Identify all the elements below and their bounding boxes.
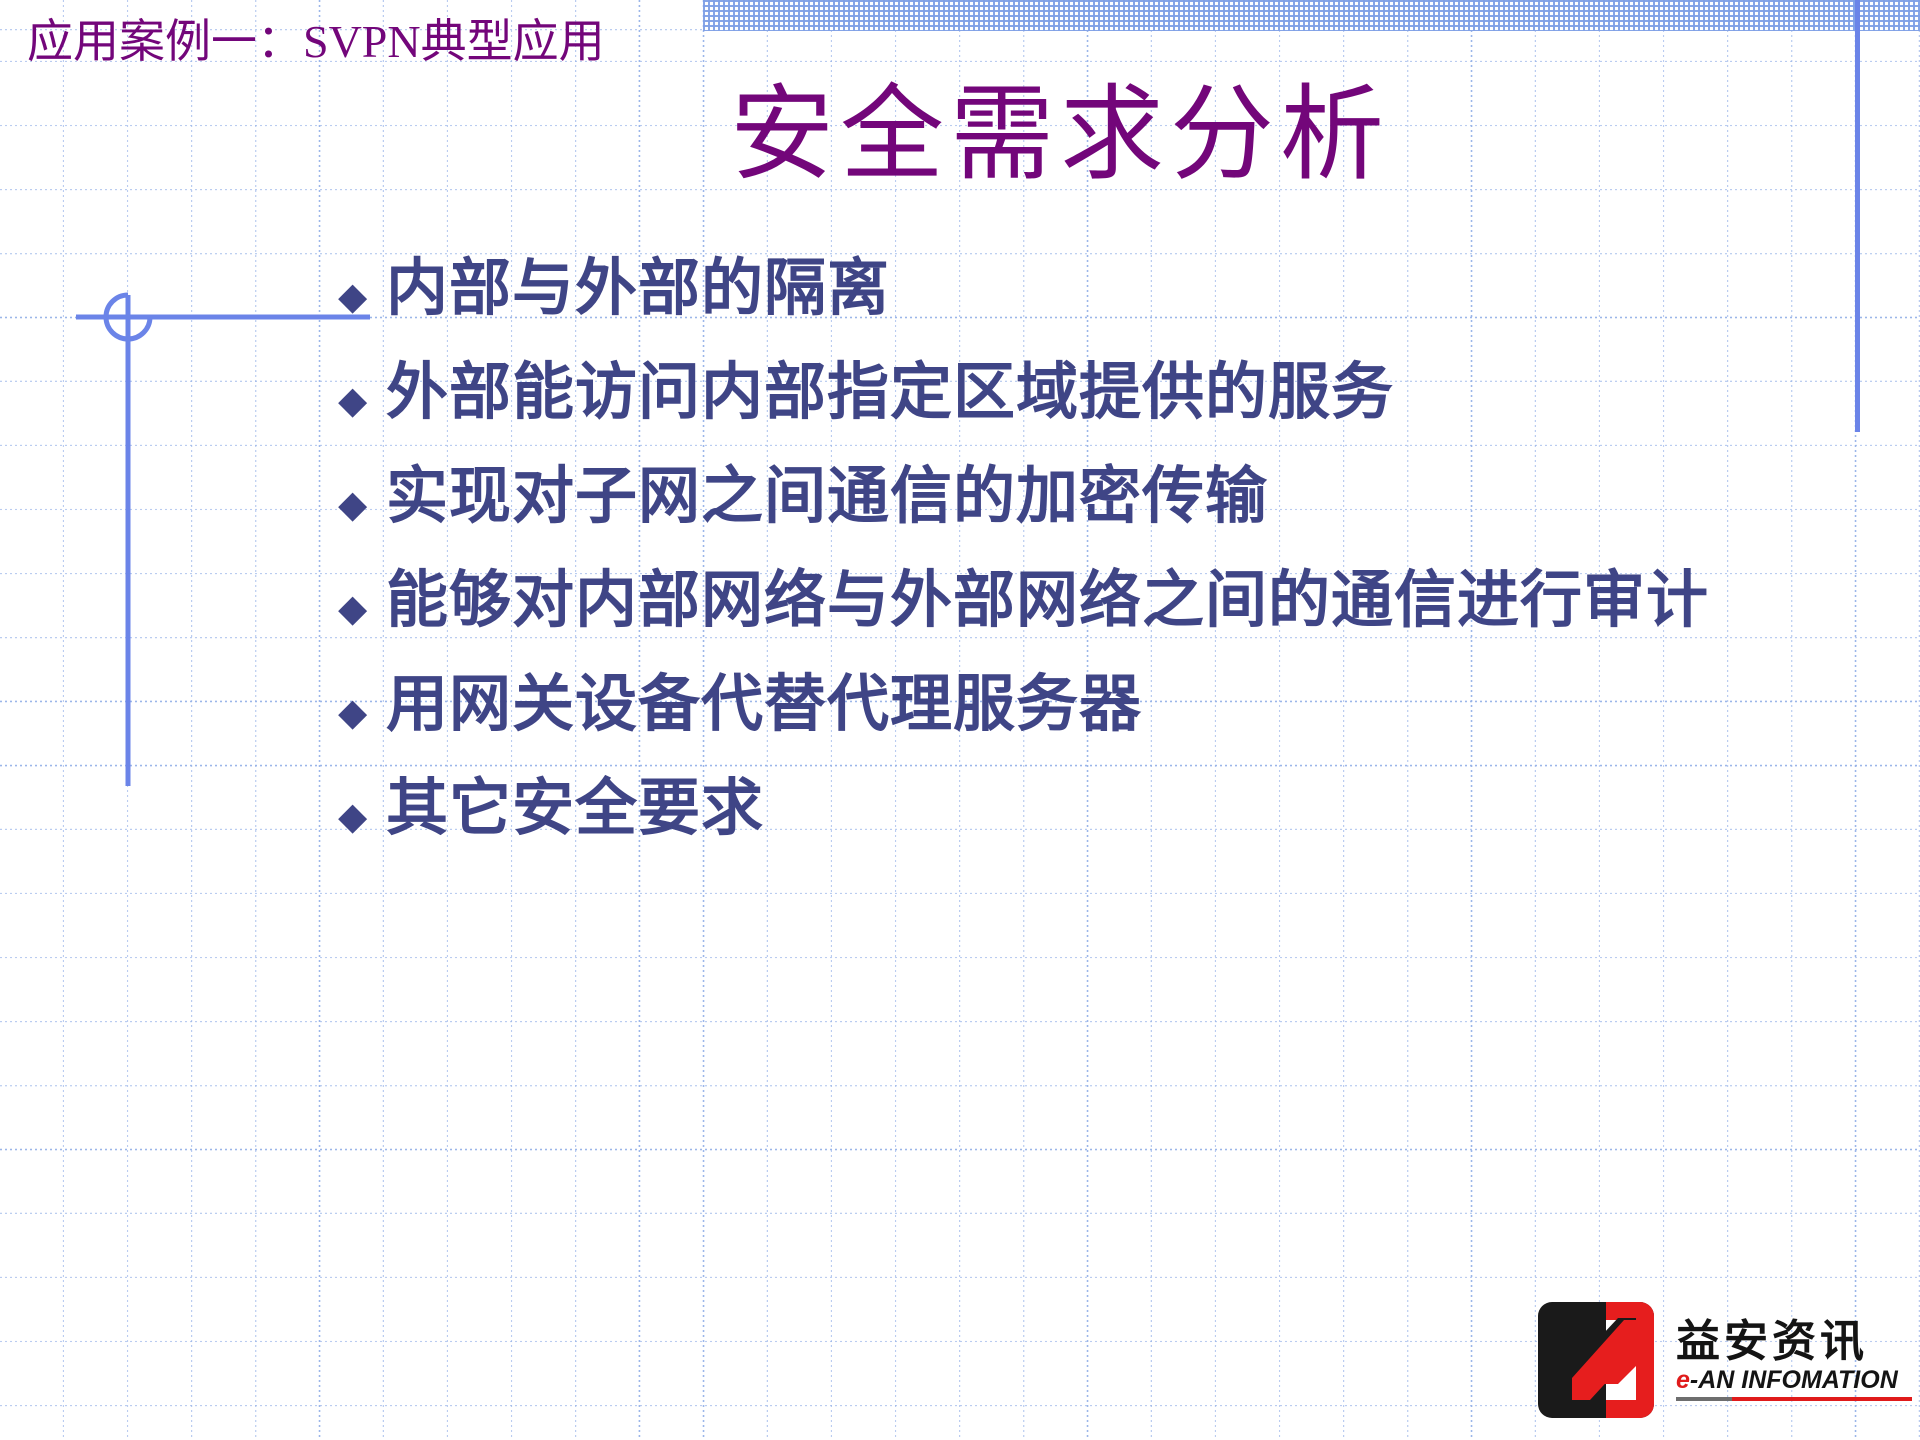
list-item-label: 能够对内部网络与外部网络之间的通信进行审计: [386, 570, 1709, 632]
list-item: ◆ 实现对子网之间通信的加密传输: [338, 466, 1858, 570]
logo-company-name-cn: 益安资讯: [1676, 1319, 1912, 1365]
diamond-bullet-icon: ◆: [338, 277, 386, 315]
list-item-label: 用网关设备代替代理服务器: [386, 674, 1142, 736]
list-item: ◆ 能够对内部网络与外部网络之间的通信进行审计: [338, 570, 1858, 674]
list-item: ◆ 外部能访问内部指定区域提供的服务: [338, 362, 1858, 466]
logo-underline: [1676, 1397, 1912, 1401]
logo-e-glyph: e: [1676, 1366, 1690, 1394]
bullet-list: ◆ 内部与外部的隔离 ◆ 外部能访问内部指定区域提供的服务 ◆ 实现对子网之间通…: [338, 258, 1858, 882]
logo-wordmark: 益安资讯 e-AN INFOMATION: [1676, 1319, 1912, 1401]
list-item-label: 内部与外部的隔离: [386, 258, 890, 320]
diamond-bullet-icon: ◆: [338, 485, 386, 523]
slide-kicker: 应用案例一：SVPN典型应用: [27, 18, 605, 66]
slide-canvas: 应用案例一：SVPN典型应用 安全需求分析 ◆ 内部与外部的隔离 ◆ 外部能访问…: [0, 0, 1920, 1440]
diamond-bullet-icon: ◆: [338, 589, 386, 627]
list-item: ◆ 其它安全要求: [338, 778, 1858, 882]
logo-en-rest: -AN INFOMATION: [1690, 1366, 1898, 1394]
logo-mark-icon: [1532, 1296, 1660, 1424]
diamond-bullet-icon: ◆: [338, 381, 386, 419]
diamond-bullet-icon: ◆: [338, 797, 386, 835]
list-item: ◆ 用网关设备代替代理服务器: [338, 674, 1858, 778]
diamond-bullet-icon: ◆: [338, 693, 386, 731]
page-title: 安全需求分析: [0, 78, 1920, 192]
company-logo: 益安资讯 e-AN INFOMATION: [1532, 1290, 1902, 1430]
list-item-label: 实现对子网之间通信的加密传输: [386, 466, 1268, 528]
top-hatched-band: [703, 0, 1920, 31]
list-item-label: 外部能访问内部指定区域提供的服务: [386, 362, 1394, 424]
list-item-label: 其它安全要求: [386, 778, 764, 840]
list-item: ◆ 内部与外部的隔离: [338, 258, 1858, 362]
logo-company-name-en: e-AN INFOMATION: [1676, 1367, 1912, 1395]
